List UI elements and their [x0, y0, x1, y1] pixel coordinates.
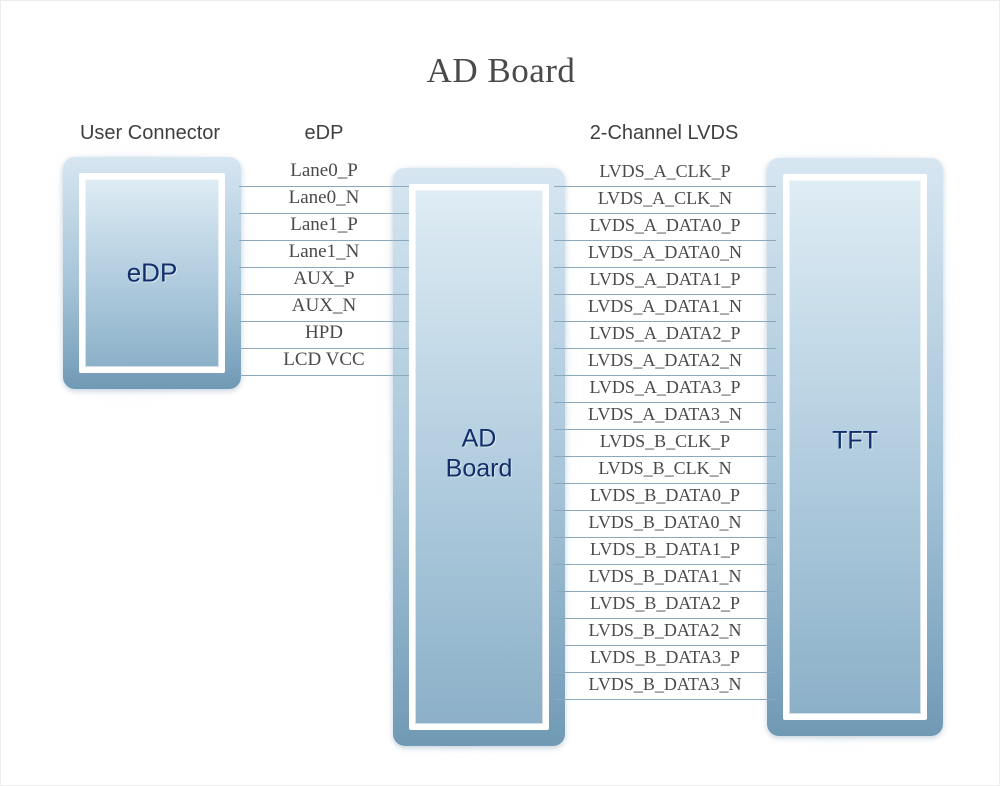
ad-board-block: AD Board [393, 168, 565, 746]
edp-signal-label: AUX_P [239, 267, 409, 291]
edp-signal-row: Lane1_N [239, 241, 409, 268]
lvds-signal-row: LVDS_B_CLK_P [554, 430, 776, 457]
lvds-signal-row: LVDS_A_DATA2_P [554, 322, 776, 349]
column-header-lvds: 2-Channel LVDS [559, 122, 769, 145]
lvds-signal-row: LVDS_A_DATA1_N [554, 295, 776, 322]
edp-signal-row: Lane0_P [239, 160, 409, 187]
lvds-signal-label: LVDS_B_DATA1_N [554, 564, 776, 588]
edp-block-label: eDP [63, 258, 241, 289]
lvds-signal-row: LVDS_A_CLK_N [554, 187, 776, 214]
edp-signal-row: LCD VCC [239, 349, 409, 376]
column-header-user-connector: User Connector [49, 122, 251, 145]
edp-signal-label: HPD [239, 321, 409, 345]
lvds-signal-row: LVDS_B_DATA1_P [554, 538, 776, 565]
lvds-signal-label: LVDS_B_CLK_P [554, 429, 776, 453]
tft-block-label: TFT [767, 426, 943, 456]
lvds-signal-row: LVDS_B_DATA0_N [554, 511, 776, 538]
lvds-signal-row: LVDS_B_DATA0_P [554, 484, 776, 511]
lvds-signal-label: LVDS_A_CLK_P [554, 159, 776, 183]
lvds-signal-row: LVDS_B_DATA3_P [554, 646, 776, 673]
edp-signal-row: HPD [239, 322, 409, 349]
column-header-edp: eDP [239, 122, 409, 145]
lvds-signal-row: LVDS_B_DATA2_N [554, 619, 776, 646]
lvds-signal-row: LVDS_A_CLK_P [554, 160, 776, 187]
lvds-signal-label: LVDS_B_DATA2_N [554, 618, 776, 642]
lvds-signal-group: LVDS_A_CLK_PLVDS_A_CLK_NLVDS_A_DATA0_PLV… [554, 160, 776, 700]
lvds-signal-label: LVDS_A_DATA1_N [554, 294, 776, 318]
tft-block: TFT [767, 158, 943, 736]
lvds-signal-label: LVDS_A_DATA2_P [554, 321, 776, 345]
edp-signal-group: Lane0_PLane0_NLane1_PLane1_NAUX_PAUX_NHP… [239, 160, 409, 376]
lvds-signal-label: LVDS_B_DATA3_P [554, 645, 776, 669]
lvds-signal-row: LVDS_A_DATA3_N [554, 403, 776, 430]
ad-board-block-label: AD Board [393, 425, 565, 484]
lvds-signal-row: LVDS_B_DATA3_N [554, 673, 776, 700]
lvds-signal-label: LVDS_A_DATA0_P [554, 213, 776, 237]
lvds-signal-label: LVDS_A_DATA0_N [554, 240, 776, 264]
diagram-canvas: AD Board User Connector eDP 2-Channel LV… [0, 0, 1000, 786]
lvds-signal-row: LVDS_B_DATA2_P [554, 592, 776, 619]
lvds-signal-label: LVDS_B_DATA3_N [554, 672, 776, 696]
edp-signal-row: Lane1_P [239, 214, 409, 241]
edp-signal-line [239, 375, 409, 376]
edp-signal-row: Lane0_N [239, 187, 409, 214]
lvds-signal-label: LVDS_A_CLK_N [554, 186, 776, 210]
edp-block: eDP [63, 157, 241, 389]
lvds-signal-label: LVDS_B_DATA0_N [554, 510, 776, 534]
lvds-signal-label: LVDS_B_DATA0_P [554, 483, 776, 507]
edp-signal-label: Lane0_P [239, 159, 409, 183]
lvds-signal-row: LVDS_A_DATA1_P [554, 268, 776, 295]
lvds-signal-label: LVDS_B_CLK_N [554, 456, 776, 480]
lvds-signal-row: LVDS_A_DATA2_N [554, 349, 776, 376]
edp-signal-label: LCD VCC [239, 348, 409, 372]
lvds-signal-row: LVDS_A_DATA3_P [554, 376, 776, 403]
lvds-signal-label: LVDS_B_DATA1_P [554, 537, 776, 561]
edp-signal-label: AUX_N [239, 294, 409, 318]
lvds-signal-row: LVDS_A_DATA0_N [554, 241, 776, 268]
edp-signal-row: AUX_N [239, 295, 409, 322]
lvds-signal-row: LVDS_B_CLK_N [554, 457, 776, 484]
edp-signal-label: Lane0_N [239, 186, 409, 210]
edp-signal-label: Lane1_N [239, 240, 409, 264]
lvds-signal-label: LVDS_A_DATA1_P [554, 267, 776, 291]
lvds-signal-row: LVDS_B_DATA1_N [554, 565, 776, 592]
edp-signal-label: Lane1_P [239, 213, 409, 237]
page-title: AD Board [1, 51, 1000, 91]
lvds-signal-row: LVDS_A_DATA0_P [554, 214, 776, 241]
lvds-signal-label: LVDS_A_DATA2_N [554, 348, 776, 372]
edp-signal-row: AUX_P [239, 268, 409, 295]
lvds-signal-label: LVDS_B_DATA2_P [554, 591, 776, 615]
lvds-signal-line [554, 699, 776, 700]
lvds-signal-label: LVDS_A_DATA3_P [554, 375, 776, 399]
lvds-signal-label: LVDS_A_DATA3_N [554, 402, 776, 426]
